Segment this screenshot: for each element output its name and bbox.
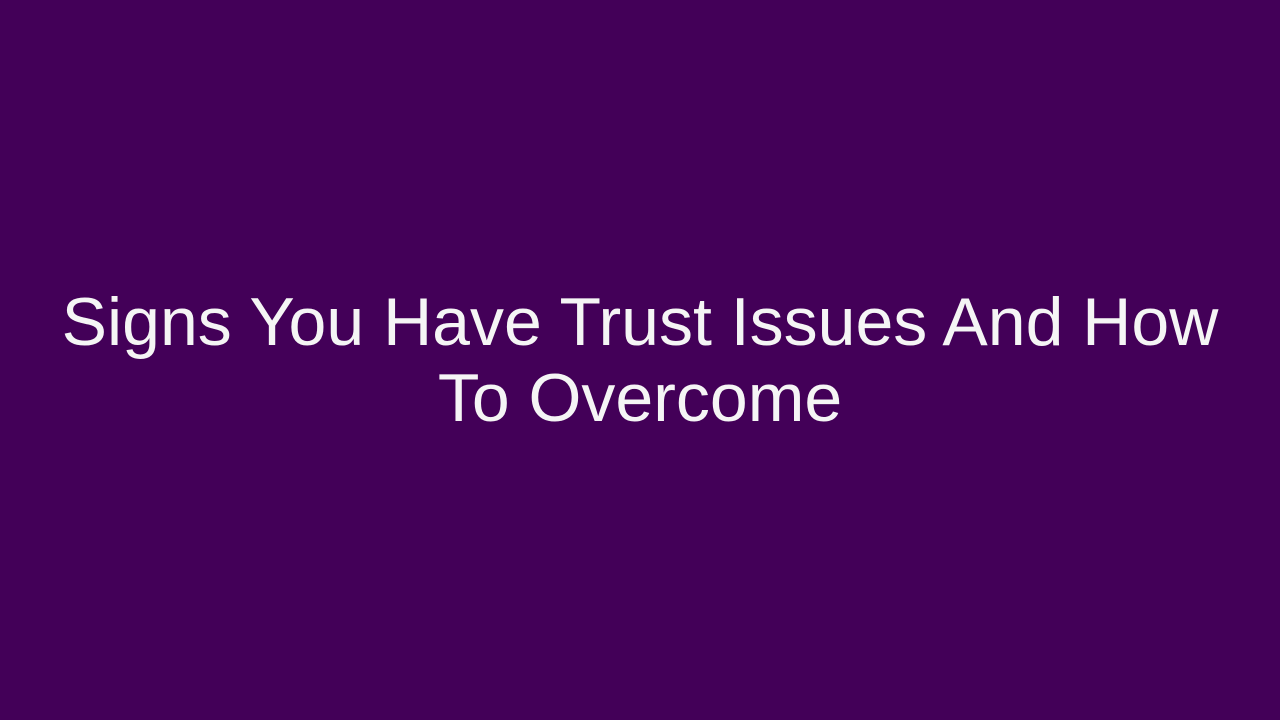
page-title: Signs You Have Trust Issues And How To O… [0,284,1280,436]
hero-banner: Signs You Have Trust Issues And How To O… [0,0,1280,720]
